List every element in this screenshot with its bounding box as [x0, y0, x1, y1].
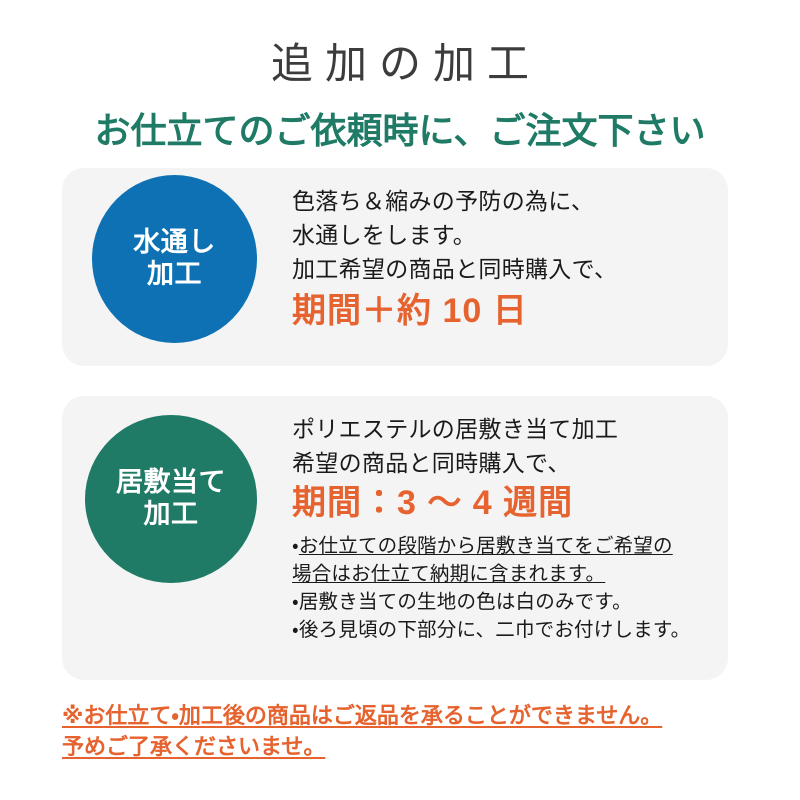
- card-ishikiate-duration: 期間：3 ～ 4 週間: [292, 480, 716, 526]
- badge-mizutoshi-line1: 水通し: [133, 227, 216, 259]
- note-text: お仕立ての段階から居敷き当てをご希望の: [299, 535, 673, 557]
- card-ishikiate-notes: ・お仕立ての段階から居敷き当てをご希望の 場合はお仕立て納期に含まれます。 ・居…: [292, 532, 716, 644]
- footer-disclaimer-line-2: 予めご了承くださいませ。: [62, 731, 762, 762]
- page-subtitle: お仕立てのご依頼時に、ご注文下さい: [0, 108, 800, 154]
- infographic-page: 追加の加工 お仕立てのご依頼時に、ご注文下さい 水通し 加工 色落ち＆縮みの予防…: [0, 0, 800, 800]
- note-text-continuation: 場合はお仕立て納期に含まれます。: [292, 563, 605, 585]
- card-mizutoshi-kakou: 水通し 加工 色落ち＆縮みの予防の為に、 水通しをします。 加工希望の商品と同時…: [62, 168, 728, 366]
- note-item: ・後ろ見頃の下部分に、二巾でお付けします。: [292, 616, 716, 644]
- card-mizutoshi-duration: 期間＋約 10 日: [292, 288, 716, 334]
- card-ishikiate-body: ポリエステルの居敷き当て加工 希望の商品と同時購入で、 期間：3 ～ 4 週間 …: [292, 412, 716, 644]
- badge-mizutoshi-line2: 加工: [147, 259, 202, 291]
- note-bullet-icon: ・: [292, 535, 299, 557]
- footer-disclaimer: ※お仕立て・加工後の商品はご返品を承ることができません。 予めご了承くださいませ…: [62, 700, 762, 762]
- card-mizutoshi-line-3: 加工希望の商品と同時購入で、: [292, 252, 716, 286]
- card-ishikiate-kakou: 居敷当て 加工 ポリエステルの居敷き当て加工 希望の商品と同時購入で、 期間：3…: [62, 396, 728, 680]
- card-mizutoshi-line-2: 水通しをします。: [292, 218, 716, 252]
- note-text: 後ろ見頃の下部分に、二巾でお付けします。: [299, 619, 690, 641]
- note-bullet-icon: ・: [292, 619, 299, 641]
- note-bullet-icon: ・: [292, 591, 299, 613]
- card-ishikiate-line-2: 希望の商品と同時購入で、: [292, 446, 716, 480]
- card-mizutoshi-body: 色落ち＆縮みの予防の為に、 水通しをします。 加工希望の商品と同時購入で、 期間…: [292, 184, 716, 334]
- note-item: ・居敷き当ての生地の色は白のみです。: [292, 588, 716, 616]
- badge-ishikiate-line2: 加工: [144, 499, 199, 531]
- card-ishikiate-line-1: ポリエステルの居敷き当て加工: [292, 412, 716, 446]
- page-title: 追加の加工: [0, 38, 800, 90]
- badge-ishikiate-line1: 居敷当て: [116, 467, 226, 499]
- note-item-continuation: 場合はお仕立て納期に含まれます。: [292, 560, 716, 588]
- note-item: ・お仕立ての段階から居敷き当てをご希望の: [292, 532, 716, 560]
- badge-ishikiate: 居敷当て 加工: [85, 415, 257, 583]
- note-text: 居敷き当ての生地の色は白のみです。: [299, 591, 632, 613]
- badge-mizutoshi: 水通し 加工: [92, 175, 257, 343]
- footer-disclaimer-line-1: ※お仕立て・加工後の商品はご返品を承ることができません。: [62, 700, 762, 731]
- card-mizutoshi-line-1: 色落ち＆縮みの予防の為に、: [292, 184, 716, 218]
